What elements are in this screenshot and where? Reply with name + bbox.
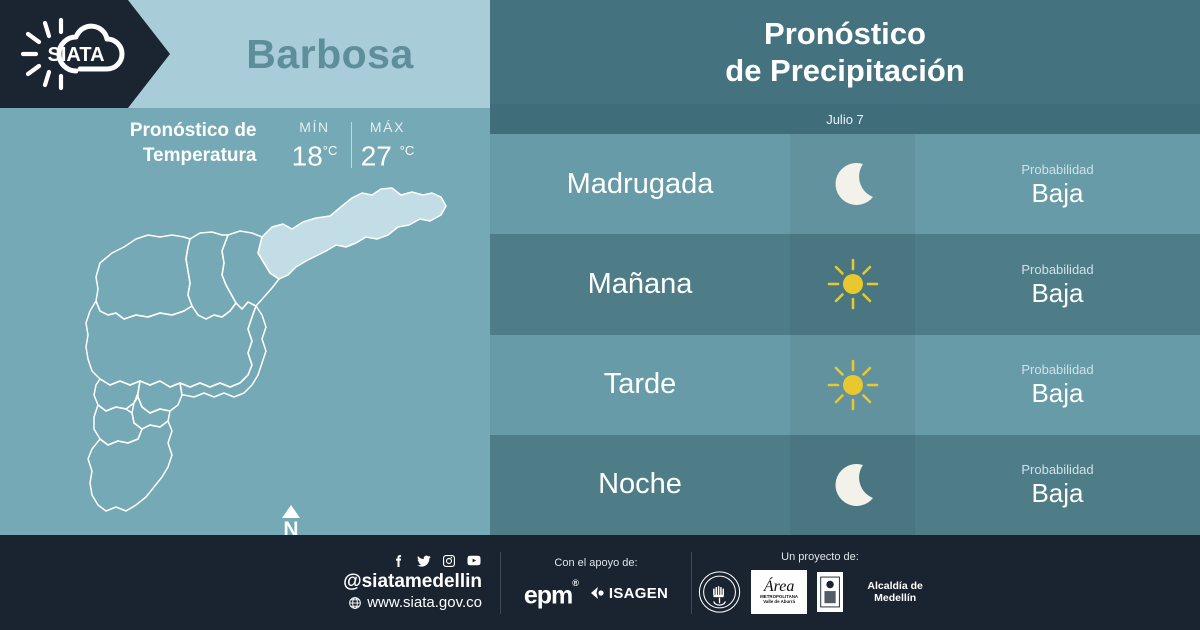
temperature-block: Pronóstico de Temperatura MÍN 18°C MÁX 2… xyxy=(0,112,490,174)
temperature-divider xyxy=(351,122,352,168)
temperature-min-value: 18°C xyxy=(279,136,351,171)
forecast-icon-cell xyxy=(790,134,915,234)
forecast-probability-cell: Probabilidad Baja xyxy=(915,234,1200,334)
epm-logo-text: epm xyxy=(524,581,572,609)
sun-cloud-icon: SIATA xyxy=(14,15,126,93)
map-region-barbosa xyxy=(258,188,446,279)
siata-logo-text: SIATA xyxy=(47,44,104,66)
sponsors-block: Con el apoyo de: epm® ISAGEN xyxy=(501,557,691,608)
forecast-date: Julio 7 xyxy=(826,112,864,127)
social-handle[interactable]: @siatamedellin xyxy=(300,571,482,593)
map-region-bello xyxy=(96,235,192,319)
probability-label: Probabilidad xyxy=(1021,461,1093,478)
forecast-period-cell: Mañana xyxy=(490,234,790,334)
map-region-medellin-south xyxy=(180,306,266,397)
map-region-medellin xyxy=(86,301,256,387)
forecast-period-label: Tarde xyxy=(604,368,677,401)
forecast-icon-cell xyxy=(790,435,915,535)
social-icons xyxy=(300,553,482,569)
forecast-icon-cell xyxy=(790,234,915,334)
temperature-values: MÍN 18°C MÁX 27 °C xyxy=(279,112,424,171)
map-svg xyxy=(0,175,490,533)
moon-icon xyxy=(825,156,881,212)
max-number: 27 xyxy=(361,140,392,171)
instagram-icon[interactable] xyxy=(441,553,457,569)
isagen-logo: ISAGEN xyxy=(590,585,668,602)
isagen-logo-text: ISAGEN xyxy=(609,585,668,602)
map-region-copacabana xyxy=(186,232,236,319)
area-metropolitana-logo: Área METROPOLITANA Valle de Aburrá xyxy=(751,570,807,614)
globe-icon xyxy=(348,596,362,610)
forecast-period-label: Mañana xyxy=(588,268,693,301)
sun-icon xyxy=(825,357,881,413)
universidad-seal-icon xyxy=(698,569,741,615)
precipitation-title-line1: Pronóstico xyxy=(764,16,926,51)
max-unit: °C xyxy=(400,143,415,158)
probability-value: Baja xyxy=(1031,378,1083,408)
area-logo-line3: Valle de Aburrá xyxy=(763,599,795,604)
forecast-period-cell: Tarde xyxy=(490,335,790,435)
epm-logo: epm® xyxy=(524,579,578,608)
forecast-icon-cell xyxy=(790,335,915,435)
probability-value: Baja xyxy=(1031,478,1083,508)
forecast-date-bar: Julio 7 xyxy=(490,104,1200,134)
alcaldia-label: Alcaldía de Medellín xyxy=(848,580,942,604)
footer: @siatamedellin www.siata.gov.co Con el a… xyxy=(0,535,1200,630)
left-header: SIATA Barbosa xyxy=(0,0,490,108)
forecast-period-label: Madrugada xyxy=(567,168,714,201)
probability-value: Baja xyxy=(1031,178,1083,208)
forecast-row[interactable]: Tarde Probabilidad Baja xyxy=(490,335,1200,435)
temperature-max-value: 27 °C xyxy=(352,136,424,171)
temperature-max: MÁX 27 °C xyxy=(352,118,424,171)
youtube-icon[interactable] xyxy=(466,553,482,569)
alcaldia-logo: Alcaldía de Medellín xyxy=(817,572,942,612)
temperature-title-line2: Temperatura xyxy=(143,145,257,166)
project-caption: Un proyecto de: xyxy=(698,551,942,563)
forecast-row[interactable]: Madrugada Probabilidad Baja xyxy=(490,134,1200,234)
website-row[interactable]: www.siata.gov.co xyxy=(300,593,482,612)
min-number: 18 xyxy=(292,140,323,171)
map-region-caldas xyxy=(88,421,172,511)
temperature-title: Pronóstico de Temperatura xyxy=(67,112,257,168)
precipitation-title: Pronóstico de Precipitación xyxy=(725,15,964,89)
forecast-period-cell: Madrugada xyxy=(490,134,790,234)
temperature-min-label: MÍN xyxy=(279,118,351,136)
forecast-probability-cell: Probabilidad Baja xyxy=(915,134,1200,234)
city-title: Barbosa xyxy=(170,0,490,108)
sun-icon xyxy=(825,256,881,312)
weather-forecast-card: SIATA Barbosa Pronóstico de Temperatura … xyxy=(0,0,1200,630)
forecast-row[interactable]: Mañana Probabilidad Baja xyxy=(490,234,1200,334)
moon-icon xyxy=(825,457,881,513)
probability-label: Probabilidad xyxy=(1021,361,1093,378)
social-block: @siatamedellin www.siata.gov.co xyxy=(300,553,500,612)
partners-block: Un proyecto de: Área METROPOLITANA Valle… xyxy=(692,551,942,615)
area-logo-signature: Área xyxy=(764,579,795,594)
precipitation-title-line2: de Precipitación xyxy=(725,53,964,88)
north-arrow-icon xyxy=(282,505,300,518)
min-unit: °C xyxy=(323,143,338,158)
precipitation-header: Pronóstico de Precipitación xyxy=(490,0,1200,104)
left-panel: SIATA Barbosa Pronóstico de Temperatura … xyxy=(0,0,490,535)
website-url: www.siata.gov.co xyxy=(367,593,482,612)
probability-label: Probabilidad xyxy=(1021,261,1093,278)
probability-label: Probabilidad xyxy=(1021,161,1093,178)
forecast-period-cell: Noche xyxy=(490,435,790,535)
forecast-probability-cell: Probabilidad Baja xyxy=(915,335,1200,435)
forecast-rows: Madrugada Probabilidad Baja Mañana Proba… xyxy=(490,134,1200,535)
temperature-max-label: MÁX xyxy=(352,118,424,136)
probability-value: Baja xyxy=(1031,278,1083,308)
support-caption: Con el apoyo de: xyxy=(511,557,681,569)
facebook-icon[interactable] xyxy=(391,553,407,569)
temperature-min: MÍN 18°C xyxy=(279,118,351,171)
aburra-valley-map[interactable]: N xyxy=(0,175,490,533)
temperature-title-line1: Pronóstico de xyxy=(130,120,257,141)
right-panel: Pronóstico de Precipitación Julio 7 Madr… xyxy=(490,0,1200,535)
twitter-icon[interactable] xyxy=(416,553,432,569)
forecast-period-label: Noche xyxy=(598,468,682,501)
siata-logo-badge[interactable]: SIATA xyxy=(0,0,170,108)
forecast-row[interactable]: Noche Probabilidad Baja xyxy=(490,435,1200,535)
isagen-mark-icon xyxy=(590,586,606,600)
alcaldia-crest-icon xyxy=(817,572,843,612)
forecast-probability-cell: Probabilidad Baja xyxy=(915,435,1200,535)
